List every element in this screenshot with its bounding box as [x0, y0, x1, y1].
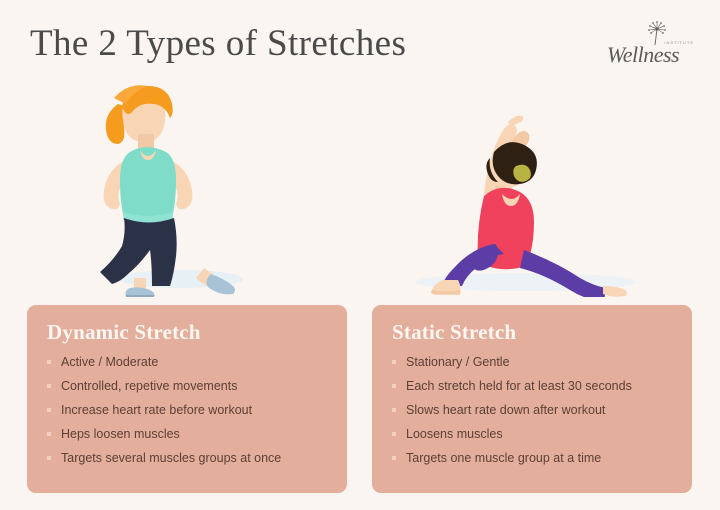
list-item: Stationary / Gentle	[390, 355, 676, 370]
list-item-label: Stationary / Gentle	[406, 355, 510, 369]
bullet-icon	[47, 408, 51, 412]
bullet-icon	[392, 360, 396, 364]
list-item: Loosens muscles	[390, 427, 676, 442]
bullet-icon	[47, 360, 51, 364]
card-list-static: Stationary / Gentle Each stretch held fo…	[390, 355, 676, 466]
page-title: The 2 Types of Stretches	[30, 22, 406, 66]
list-item-label: Slows heart rate down after workout	[406, 403, 605, 417]
infographic-canvas: The 2 Types of Stretches	[0, 0, 720, 510]
bullet-icon	[47, 432, 51, 436]
bullet-icon	[392, 408, 396, 412]
list-item-label: Targets one muscle group at a time	[406, 451, 601, 465]
card-list-dynamic: Active / Moderate Controlled, repetive m…	[45, 355, 331, 466]
card-dynamic-stretch: Dynamic Stretch Active / Moderate Contro…	[27, 305, 347, 493]
card-title-static: Static Stretch	[392, 319, 676, 345]
list-item-label: Active / Moderate	[61, 355, 158, 369]
logo-wordmark: Wellness	[588, 42, 698, 68]
bullet-icon	[392, 456, 396, 460]
list-item: Active / Moderate	[45, 355, 331, 370]
list-item: Heps loosen muscles	[45, 427, 331, 442]
card-static-stretch: Static Stretch Stationary / Gentle Each …	[372, 305, 692, 493]
illustration-woman-side-lunge	[78, 82, 278, 297]
list-item-label: Increase heart rate before workout	[61, 403, 252, 417]
list-item-label: Each stretch held for at least 30 second…	[406, 379, 632, 393]
bullet-icon	[392, 432, 396, 436]
list-item: Targets one muscle group at a time	[390, 451, 676, 466]
list-item-label: Targets several muscles groups at once	[61, 451, 281, 465]
brand-logo: INSTITUTE Wellness	[588, 20, 698, 72]
illustration-woman-low-lunge	[398, 82, 648, 297]
card-title-dynamic: Dynamic Stretch	[47, 319, 331, 345]
list-item: Each stretch held for at least 30 second…	[390, 379, 676, 394]
list-item-label: Loosens muscles	[406, 427, 503, 441]
list-item: Increase heart rate before workout	[45, 403, 331, 418]
list-item: Controlled, repetive movements	[45, 379, 331, 394]
list-item-label: Heps loosen muscles	[61, 427, 180, 441]
list-item-label: Controlled, repetive movements	[61, 379, 237, 393]
bullet-icon	[47, 456, 51, 460]
bullet-icon	[392, 384, 396, 388]
bullet-icon	[47, 384, 51, 388]
list-item: Slows heart rate down after workout	[390, 403, 676, 418]
list-item: Targets several muscles groups at once	[45, 451, 331, 466]
